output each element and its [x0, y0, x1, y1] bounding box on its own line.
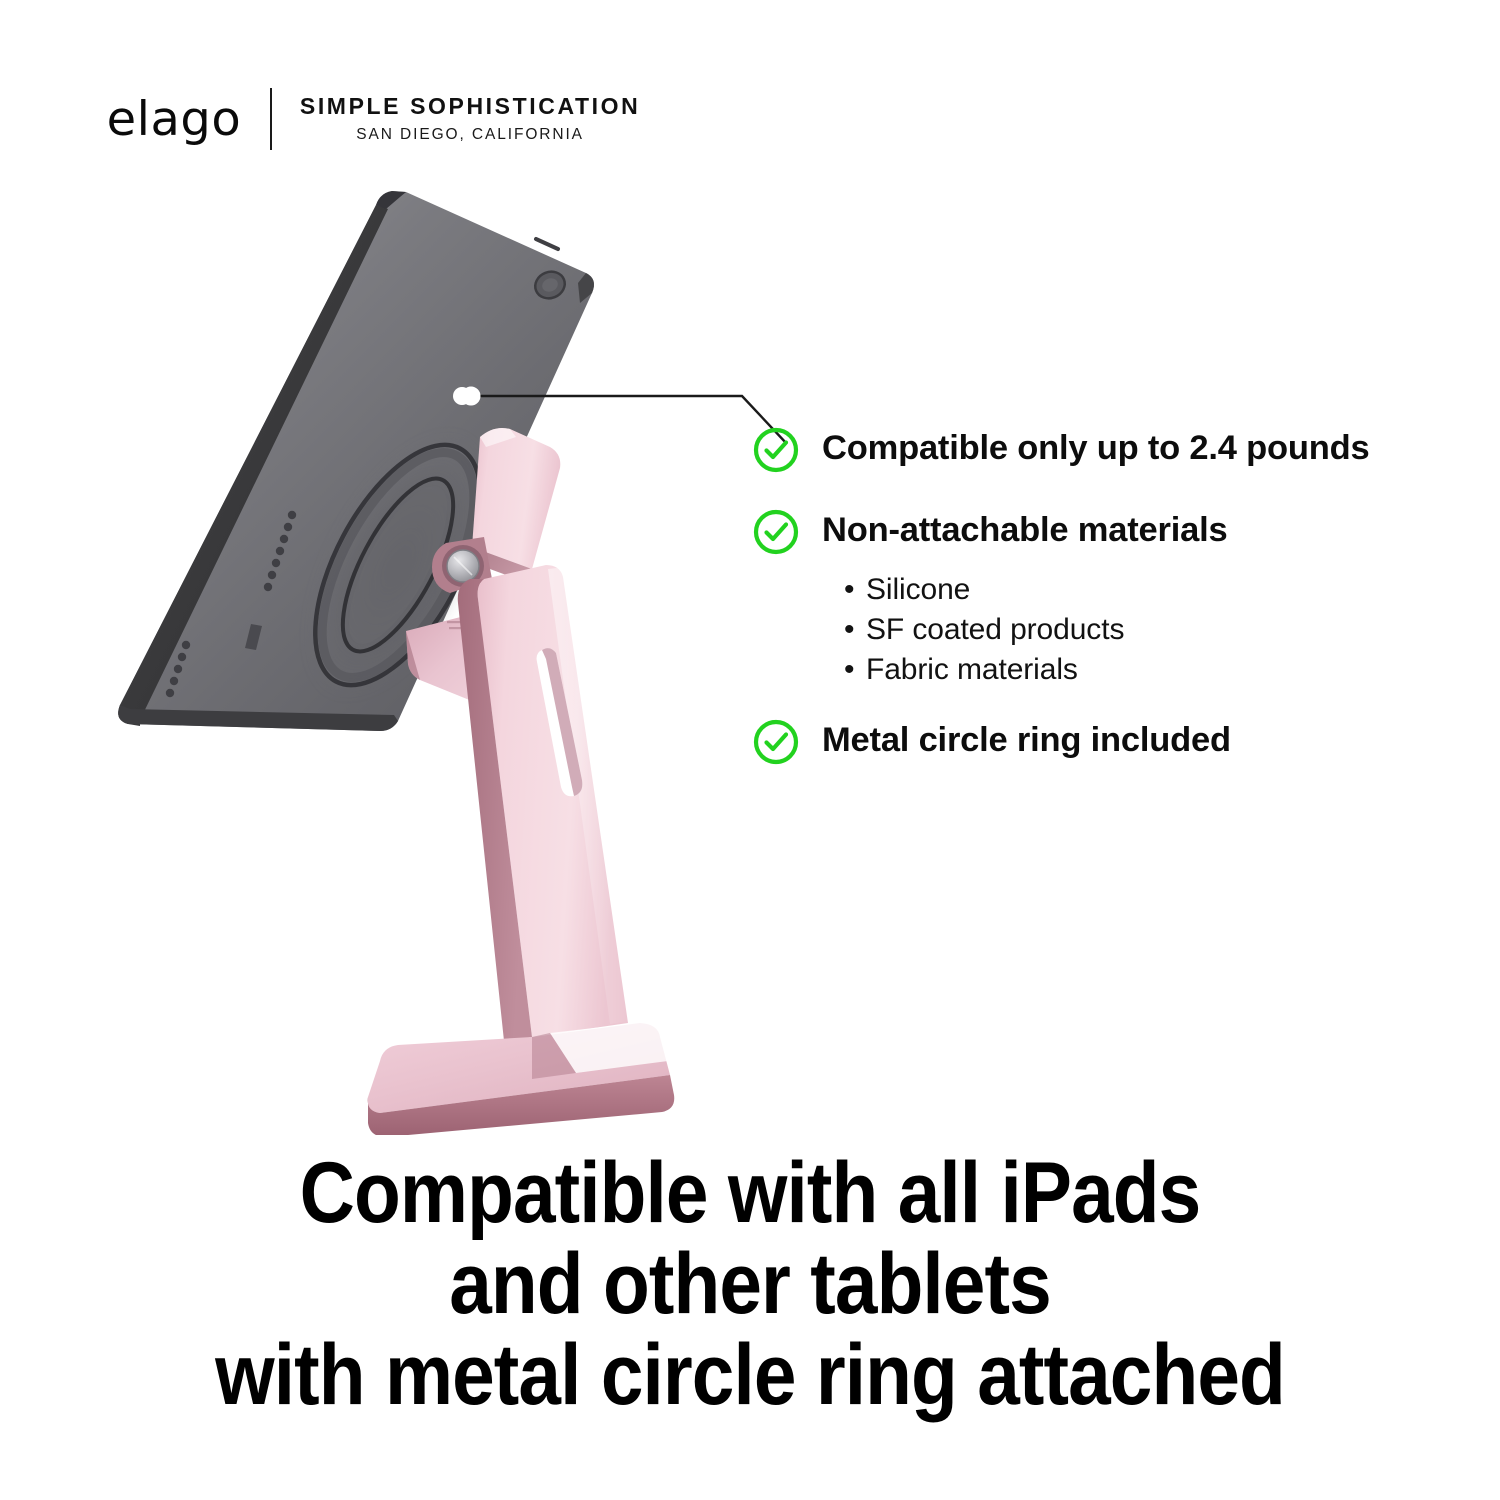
feature-item-weight: Compatible only up to 2.4 pounds — [752, 424, 1452, 474]
headline-line-2: and other tablets — [83, 1239, 1418, 1330]
product-photo — [80, 175, 810, 1135]
check-circle-icon — [752, 426, 800, 474]
sub-item-label: Fabric materials — [866, 653, 1078, 686]
bullet-icon: • — [844, 610, 866, 650]
list-item: •Silicone — [844, 570, 1452, 610]
sub-item-label: SF coated products — [866, 613, 1124, 646]
feature-label: Non-attachable materials — [822, 506, 1228, 554]
feature-item-ring: Metal circle ring included — [752, 716, 1452, 766]
brand-text-block: SIMPLE SOPHISTICATION SAN DIEGO, CALIFOR… — [300, 93, 640, 144]
feature-item-materials: Non-attachable materials — [752, 506, 1452, 556]
brand-tagline: SIMPLE SOPHISTICATION — [300, 93, 640, 119]
sub-item-label: Silicone — [866, 573, 970, 606]
non-attachable-sub-list: •Silicone •SF coated products •Fabric ma… — [844, 570, 1452, 690]
brand-header: elago SIMPLE SOPHISTICATION SAN DIEGO, C… — [108, 88, 640, 150]
bullet-icon: • — [844, 570, 866, 610]
list-item: •SF coated products — [844, 610, 1452, 650]
brand-divider — [270, 88, 272, 150]
tablet-top-slot — [536, 239, 558, 249]
check-circle-icon — [752, 508, 800, 556]
feature-list: Compatible only up to 2.4 pounds Non-att… — [752, 424, 1452, 766]
feature-label: Compatible only up to 2.4 pounds — [822, 424, 1370, 472]
feature-label: Metal circle ring included — [822, 716, 1231, 764]
list-item: •Fabric materials — [844, 650, 1452, 690]
check-circle-icon — [752, 718, 800, 766]
headline-line-3: with metal circle ring attached — [83, 1330, 1418, 1421]
bullet-icon: • — [844, 650, 866, 690]
elago-logo: elago — [107, 96, 242, 143]
callout-anchor-dot — [453, 387, 471, 405]
page-headline: Compatible with all iPads and other tabl… — [0, 1148, 1500, 1421]
headline-line-1: Compatible with all iPads — [83, 1148, 1418, 1239]
brand-location: SAN DIEGO, CALIFORNIA — [300, 126, 640, 145]
